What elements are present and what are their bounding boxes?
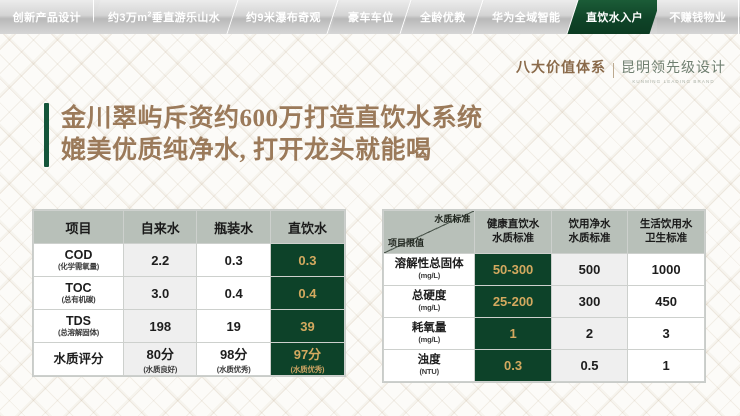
nav-item-1[interactable]: 约3万m2垂直游乐山水	[89, 0, 238, 34]
cell-healthy: 1	[475, 318, 551, 350]
nav-item-label: 豪车车位	[347, 9, 393, 25]
corner-label-bottom: 项目限值	[388, 238, 424, 250]
cell-healthy: 50-300	[475, 254, 551, 286]
cell-item: 耗氧量 (mg/L)	[384, 318, 475, 350]
cell-purified: 500	[551, 254, 627, 286]
cell-domestic: 450	[628, 286, 705, 318]
item-name: TDS	[66, 314, 91, 328]
cell-healthy: 25-200	[475, 286, 551, 318]
table-left-body: COD (化学需氧量) 2.2 0.3 0.3 TOC (总有机碳) 3.0 0…	[34, 244, 345, 376]
slide-page: 创新产品设计 约3万m2垂直游乐山水 约9米瀑布奇观 豪车车位 全龄优教 华为全…	[0, 0, 740, 416]
value-sublabel: (水质优秀)	[271, 364, 344, 375]
col-header-domestic-text: 生活饮用水卫生标准	[640, 218, 693, 244]
col-header-item: 项目	[34, 211, 124, 244]
cell-domestic: 3	[628, 318, 705, 350]
nav-item-label: 不赚钱物业	[669, 9, 726, 25]
table-row: 总硬度 (mg/L) 25-200 300 450	[384, 286, 705, 318]
top-nav: 创新产品设计 约3万m2垂直游乐山水 约9米瀑布奇观 豪车车位 全龄优教 华为全…	[0, 0, 740, 34]
item-name: TOC	[65, 281, 91, 295]
table-row-header: 水质标准 项目限值 健康直饮水水质标准 饮用净水水质标准 生活饮用水卫生标准	[384, 211, 705, 254]
cell-bottled: 19	[197, 310, 270, 343]
cell-purified: 2	[551, 318, 627, 350]
nav-item-3[interactable]: 豪车车位	[329, 0, 411, 34]
cell-bottled: 0.3	[197, 244, 270, 277]
nav-item-label: 全龄优教	[419, 9, 465, 25]
nav-item-7[interactable]: 不赚钱物业	[657, 0, 739, 34]
brand-main-title: 八大价值体系	[516, 62, 606, 76]
nav-item-6-active[interactable]: 直饮水入户	[568, 0, 661, 34]
table-row: COD (化学需氧量) 2.2 0.3 0.3	[34, 244, 345, 277]
cell-healthy: 0.3	[475, 350, 551, 382]
nav-item-2[interactable]: 约9米瀑布奇观	[228, 0, 339, 34]
brand-divider	[613, 63, 614, 78]
table-right-head: 水质标准 项目限值 健康直饮水水质标准 饮用净水水质标准 生活饮用水卫生标准	[384, 211, 705, 254]
cell-item: 水质评分	[34, 343, 124, 376]
item-sublabel: (总溶解固体)	[34, 329, 123, 338]
headline-block: 金川翠屿斥资约600万打造直饮水系统 媲美优质纯净水, 打开龙头就能喝	[44, 103, 483, 167]
col-header-purified-text: 饮用净水水质标准	[569, 218, 611, 244]
nav-item-label: 直饮水入户	[586, 9, 643, 25]
headline-text-group: 金川翠屿斥资约600万打造直饮水系统 媲美优质纯净水, 打开龙头就能喝	[61, 103, 483, 167]
table-row: TOC (总有机碳) 3.0 0.4 0.4	[34, 277, 345, 310]
cell-tap: 80分 (水质良好)	[124, 343, 197, 376]
value: 97分	[294, 347, 321, 362]
cell-item: 溶解性总固体 (mg/L)	[384, 254, 475, 286]
item-name: 总硬度	[412, 290, 447, 302]
cell-direct: 97分 (水质优秀)	[270, 343, 344, 376]
corner-label-top: 水质标准	[434, 214, 470, 226]
cell-direct: 0.3	[270, 244, 344, 277]
table-row: 溶解性总固体 (mg/L) 50-300 500 1000	[384, 254, 705, 286]
item-name: 水质评分	[54, 352, 104, 366]
item-name: 浊度	[418, 354, 441, 366]
nav-item-label: 约9米瀑布奇观	[246, 9, 321, 25]
cell-tap: 3.0	[124, 277, 197, 310]
table-row: 浊度 (NTU) 0.3 0.5 1	[384, 350, 705, 382]
item-name: 耗氧量	[412, 322, 447, 334]
nav-item-0[interactable]: 创新产品设计	[0, 0, 94, 34]
value-sublabel: (水质优秀)	[197, 364, 269, 375]
table-row: TDS (总溶解固体) 198 19 39	[34, 310, 345, 343]
col-header-corner-split: 水质标准 项目限值	[384, 211, 475, 254]
cell-purified: 300	[551, 286, 627, 318]
water-comparison-table: 项目 自来水 瓶装水 直饮水 COD (化学需氧量) 2.2 0.3 0.3	[33, 210, 345, 376]
item-unit: (mg/L)	[384, 336, 474, 345]
cell-bottled: 0.4	[197, 277, 270, 310]
col-header-bottled: 瓶装水	[197, 211, 270, 244]
brand-sub-title: 昆明领先级设计	[621, 62, 726, 76]
water-standards-table: 水质标准 项目限值 健康直饮水水质标准 饮用净水水质标准 生活饮用水卫生标准 溶…	[383, 210, 705, 382]
headline-line-2: 媲美优质纯净水, 打开龙头就能喝	[61, 135, 483, 167]
value: 98分	[220, 347, 247, 362]
headline-line-1: 金川翠屿斥资约600万打造直饮水系统	[61, 103, 483, 135]
item-unit: (mg/L)	[384, 304, 474, 313]
brand-english-tagline: KUNMING LEADING BRAND	[632, 79, 714, 84]
value: 80分	[147, 347, 174, 362]
nav-item-label: 约3万m2垂直游乐山水	[107, 9, 219, 25]
brand-secondary: 昆明领先级设计 KUNMING LEADING BRAND	[621, 62, 726, 84]
table-left: 项目 自来水 瓶装水 直饮水 COD (化学需氧量) 2.2 0.3 0.3	[33, 210, 345, 376]
cell-direct: 0.4	[270, 277, 344, 310]
nav-item-5[interactable]: 华为全域智能	[473, 0, 578, 34]
cell-item: COD (化学需氧量)	[34, 244, 124, 277]
item-unit: (NTU)	[384, 368, 474, 377]
nav-item-label: 华为全域智能	[491, 9, 559, 25]
cell-item: 总硬度 (mg/L)	[384, 286, 475, 318]
cell-item: 浊度 (NTU)	[384, 350, 475, 382]
headline-accent-bar	[44, 103, 49, 167]
cell-direct: 39	[270, 310, 344, 343]
cell-domestic: 1000	[628, 254, 705, 286]
item-unit: (mg/L)	[384, 272, 474, 281]
nav-item-4[interactable]: 全龄优教	[401, 0, 483, 34]
cell-item: TOC (总有机碳)	[34, 277, 124, 310]
cell-domestic: 1	[628, 350, 705, 382]
item-sublabel: (总有机碳)	[34, 296, 123, 305]
item-sublabel: (化学需氧量)	[34, 263, 123, 272]
item-name: COD	[65, 248, 93, 262]
col-header-direct: 直饮水	[270, 211, 344, 244]
col-header-healthy: 健康直饮水水质标准	[475, 211, 551, 254]
col-header-domestic: 生活饮用水卫生标准	[628, 211, 705, 254]
table-row: 水质评分 80分 (水质良好) 98分 (水质优秀) 97分 (水质优秀)	[34, 343, 345, 376]
cell-purified: 0.5	[551, 350, 627, 382]
table-right: 水质标准 项目限值 健康直饮水水质标准 饮用净水水质标准 生活饮用水卫生标准 溶…	[383, 210, 705, 382]
cell-bottled: 98分 (水质优秀)	[197, 343, 270, 376]
nav-item-label: 创新产品设计	[13, 9, 81, 25]
table-right-body: 溶解性总固体 (mg/L) 50-300 500 1000 总硬度 (mg/L)…	[384, 254, 705, 382]
col-header-purified: 饮用净水水质标准	[551, 211, 627, 254]
table-left-head: 项目 自来水 瓶装水 直饮水	[34, 211, 345, 244]
cell-tap: 2.2	[124, 244, 197, 277]
table-row: 耗氧量 (mg/L) 1 2 3	[384, 318, 705, 350]
col-header-healthy-text: 健康直饮水水质标准	[487, 218, 540, 244]
brand-lockup: 八大价值体系 昆明领先级设计 KUNMING LEADING BRAND	[516, 62, 726, 84]
table-row-header: 项目 自来水 瓶装水 直饮水	[34, 211, 345, 244]
col-header-tap: 自来水	[124, 211, 197, 244]
cell-item: TDS (总溶解固体)	[34, 310, 124, 343]
item-name: 溶解性总固体	[395, 258, 464, 270]
cell-tap: 198	[124, 310, 197, 343]
value-sublabel: (水质良好)	[124, 364, 196, 375]
